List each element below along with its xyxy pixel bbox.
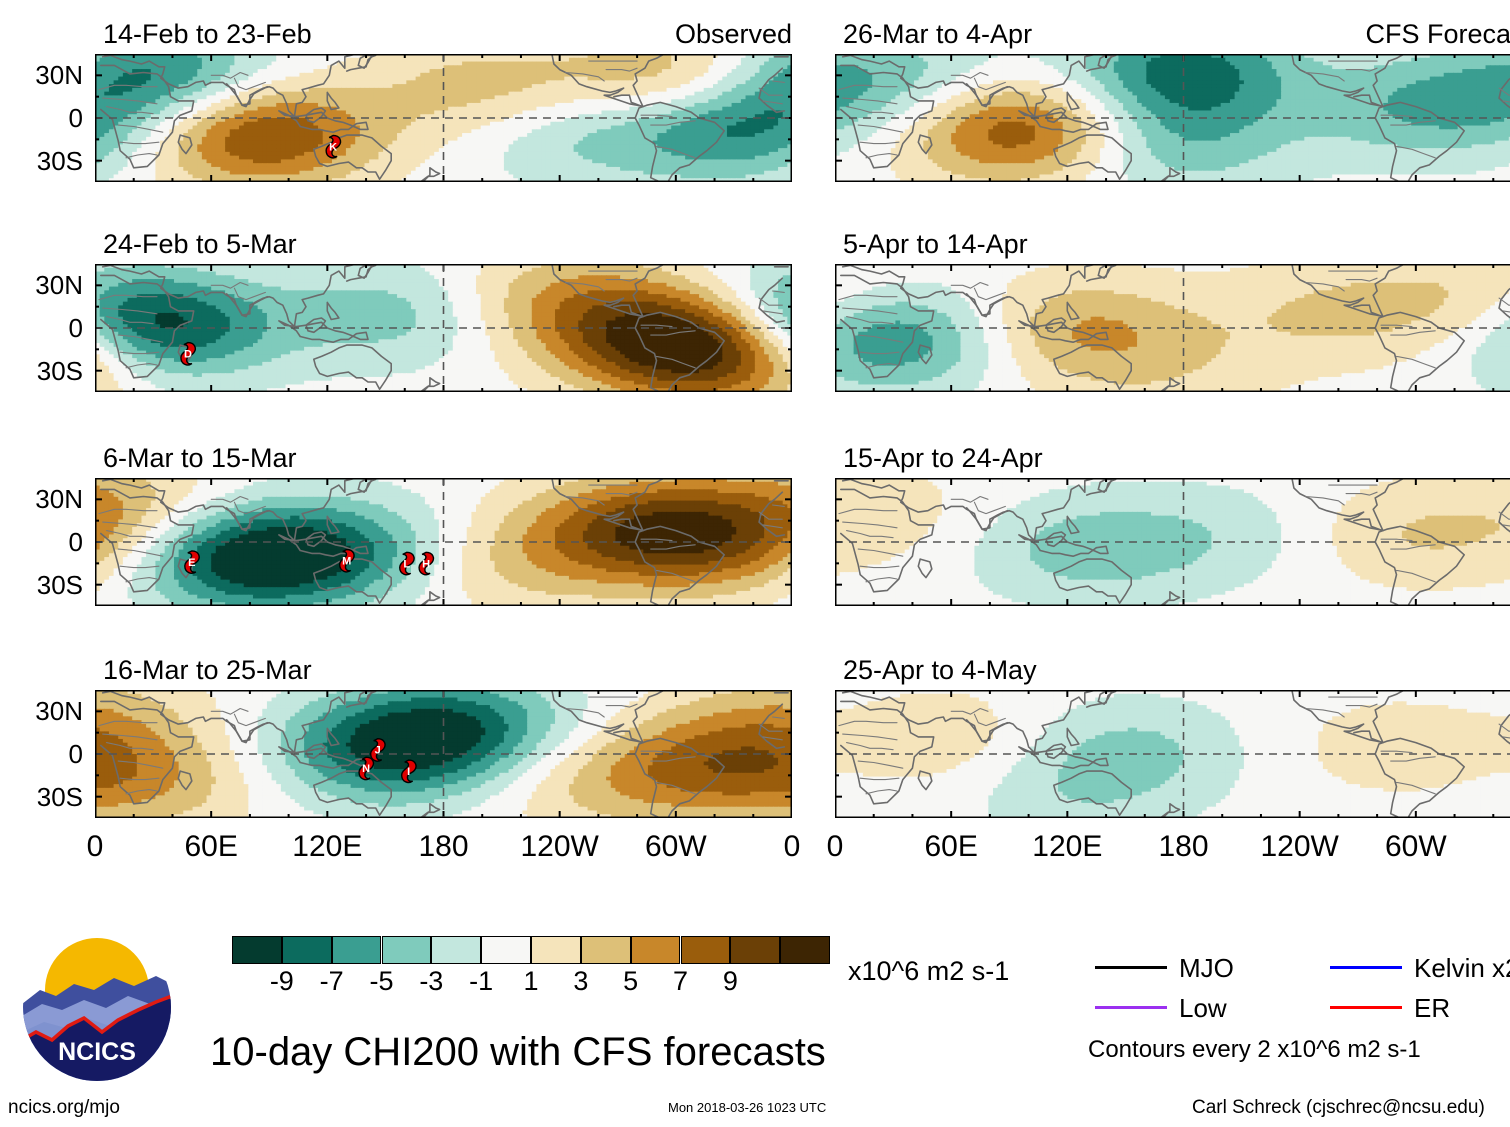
colorbar-swatch [581,936,631,964]
legend-label-er: ER [1414,995,1450,1021]
map-panel-fcst-4 [835,690,1510,818]
map-panel-obs-2: D [95,264,792,392]
map-panel-fcst-2 [835,264,1510,392]
x-tick-label: 60W [1356,832,1476,862]
panel-plot-obs-2: D [95,264,792,392]
panel-plot-fcst-1 [835,54,1510,182]
panel-title-fcst-2: 5-Apr to 14-Apr [843,231,1028,258]
footer-timestamp: Mon 2018-03-26 1023 UTC [668,1101,826,1114]
column-header-forecast: CFS Forecast [0,21,1510,48]
ncics-logo-svg: NCICS [22,932,172,1082]
colorbar-swatch [780,936,830,964]
y-tick-label: 0 [0,529,83,555]
legend-label-mjo: MJO [1179,955,1234,981]
panel-plot-obs-1: K [95,54,792,182]
y-tick-label: 30N [0,698,83,724]
y-tick-label: 30S [0,572,83,598]
legend-line-low [1095,1006,1167,1009]
colorbar-tick-label: 9 [690,968,770,995]
colorbar-swatch [730,936,780,964]
colorbar-swatch [681,936,731,964]
contour-interval-note: Contours every 2 x10^6 m2 s-1 [1088,1038,1421,1062]
panel-plot-fcst-4 [835,690,1510,818]
x-tick-label: 0 [1472,832,1510,862]
panel-plot-fcst-2 [835,264,1510,392]
y-tick-label: 30S [0,148,83,174]
panel-title-obs-3: 6-Mar to 15-Mar [103,445,297,472]
x-tick-label: 120W [1240,832,1360,862]
panel-title-obs-2: 24-Feb to 5-Mar [103,231,297,258]
colorbar-swatch [631,936,681,964]
colorbar-swatch [382,936,432,964]
legend-label-low: Low [1179,995,1227,1021]
colorbar-swatch [431,936,481,964]
y-tick-label: 30N [0,486,83,512]
legend-line-er [1330,1006,1402,1009]
x-tick-label: 60W [616,832,736,862]
legend-label-kelvin-x2: Kelvin x2 [1414,955,1510,981]
map-panel-obs-4: JNI [95,690,792,818]
panel-plot-obs-4: JNI [95,690,792,818]
footer-author: Carl Schreck (cjschrec@ncsu.edu) [1192,1098,1485,1117]
colorbar-swatch [332,936,382,964]
y-tick-label: 30S [0,358,83,384]
legend-line-mjo [1095,966,1167,969]
x-tick-label: 0 [35,832,155,862]
map-panel-obs-3: EMLH [95,478,792,606]
y-tick-label: 30S [0,784,83,810]
footer-website[interactable]: ncics.org/mjo [8,1098,120,1117]
panel-plot-obs-3: EMLH [95,478,792,606]
y-tick-label: 0 [0,105,83,131]
panel-title-fcst-3: 15-Apr to 24-Apr [843,445,1043,472]
ncics-logo: NCICS [22,932,172,1082]
y-tick-label: 30N [0,272,83,298]
x-tick-label: 60E [151,832,271,862]
colorbar [232,936,830,964]
panel-title-obs-4: 16-Mar to 25-Mar [103,657,312,684]
colorbar-swatch [232,936,282,964]
y-tick-label: 30N [0,62,83,88]
logo-wordmark: NCICS [58,1038,136,1066]
x-tick-label: 120W [500,832,620,862]
x-tick-label: 60E [891,832,1011,862]
panel-title-fcst-4: 25-Apr to 4-May [843,657,1037,684]
colorbar-units-label: x10^6 m2 s-1 [848,958,1009,985]
x-tick-label: 0 [775,832,895,862]
x-tick-label: 180 [1124,832,1244,862]
y-tick-label: 0 [0,315,83,341]
legend-line-kelvin-x2 [1330,966,1402,969]
figure-main-title: 10-day CHI200 with CFS forecasts [210,1032,826,1072]
x-tick-label: 120E [1007,832,1127,862]
map-panel-obs-1: K [95,54,792,182]
x-tick-label: 120E [267,832,387,862]
panel-plot-fcst-3 [835,478,1510,606]
colorbar-swatch [531,936,581,964]
colorbar-swatch [282,936,332,964]
colorbar-swatch [481,936,531,964]
x-tick-label: 180 [384,832,504,862]
map-panel-fcst-3 [835,478,1510,606]
y-tick-label: 0 [0,741,83,767]
map-panel-fcst-1 [835,54,1510,182]
